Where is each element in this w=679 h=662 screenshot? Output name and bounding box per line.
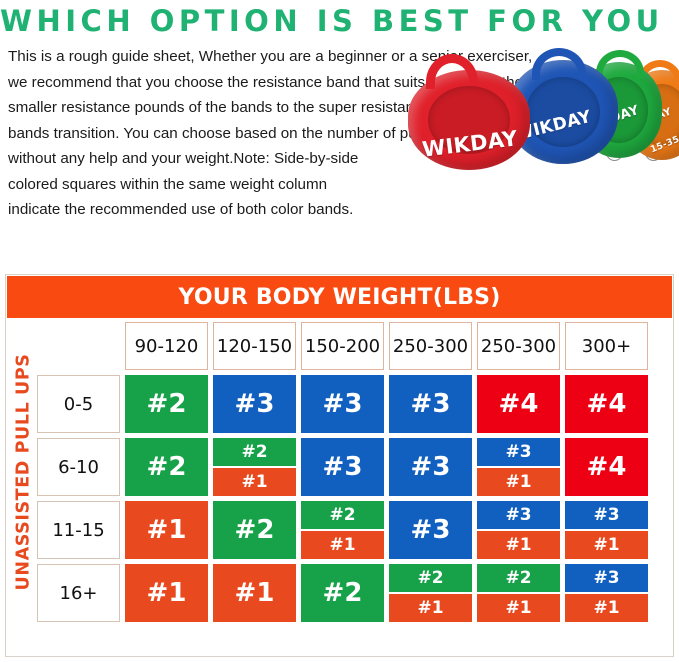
weight-column-header: 150-200 (301, 322, 384, 370)
band-recommendation-cell: #3 (389, 438, 472, 496)
intro-line: indicate the recommended use of both col… (8, 197, 428, 223)
intro-line: without any help and your weight.Note: S… (8, 146, 428, 172)
weight-column-header: 90-120 (125, 322, 208, 370)
band-recommendation-cell: #4 (477, 375, 560, 433)
band-recommendation-label: #4 (477, 375, 560, 433)
band-recommendation-cell: #3#1 (477, 501, 560, 559)
table-grid: UNASSISTED PULL UPS 90-120 120-150 150-2… (6, 318, 673, 627)
pullups-row-label: 0-5 (37, 375, 120, 433)
band-recommendation-cell: #3 (389, 375, 472, 433)
band-recommendation-label: #4 (565, 375, 648, 433)
band-loop-icon (532, 48, 586, 80)
band-recommendation-label: #3 (301, 438, 384, 496)
band-recommendation-label: #2 (389, 564, 472, 592)
band-recommendation-label: #2 (125, 438, 208, 496)
band-recommendation-label: #3 (389, 438, 472, 496)
band-recommendation-label: #3 (301, 375, 384, 433)
band-recommendation-cell: #2 (301, 564, 384, 622)
band-recommendation-cell: #4 (565, 438, 648, 496)
table-row: 11-15#1#2#2#1#3#3#1#3#1 (37, 501, 670, 559)
table-row: 16+#1#1#2#2#1#2#1#3#1 (37, 564, 670, 622)
weight-column-header: 120-150 (213, 322, 296, 370)
band-recommendation-label: #3 (565, 564, 648, 592)
band-recommendation-cell: #1 (125, 501, 208, 559)
pullups-axis-label-column: UNASSISTED PULL UPS (9, 322, 37, 622)
table-rows-host: 0-5#2#3#3#3#4#46-10#2#2#1#3#3#3#1#411-15… (37, 375, 670, 622)
band-recommendation-label: #3 (565, 501, 648, 529)
band-recommendation-label: #1 (565, 531, 648, 559)
band-recommendation-label: #3 (477, 501, 560, 529)
page-title: WHICH OPTION IS BEST FOR YOU ? (0, 0, 679, 40)
band-red: WIKDAY (408, 70, 530, 170)
band-recommendation-cell: #3#1 (477, 438, 560, 496)
band-recommendation-label: #1 (565, 594, 648, 622)
band-recommendation-cell: #3 (301, 438, 384, 496)
band-recommendation-cell: #2 (125, 375, 208, 433)
band-recommendation-cell: #3 (389, 501, 472, 559)
band-recommendation-label: #1 (213, 564, 296, 622)
band-recommendation-cell: #2 (125, 438, 208, 496)
band-recommendation-label: #3 (389, 501, 472, 559)
intro-section: This is a rough guide sheet, Whether you… (0, 40, 679, 262)
weight-column-header: 250-300 (477, 322, 560, 370)
resistance-bands-photo: WIKDAY 15-35 WIKDAY WIKDAY WIKDAY (408, 48, 676, 172)
band-recommendation-cell: #2#1 (389, 564, 472, 622)
pullups-row-label: 16+ (37, 564, 120, 622)
band-recommendation-label: #1 (477, 468, 560, 496)
band-recommendation-label: #2 (125, 375, 208, 433)
band-recommendation-cell: #2#1 (213, 438, 296, 496)
weight-column-header: 250-300 (389, 322, 472, 370)
band-recommendation-label: #2 (477, 564, 560, 592)
band-recommendation-label: #2 (301, 564, 384, 622)
band-recommendation-label: #2 (213, 438, 296, 466)
band-recommendation-label: #1 (389, 594, 472, 622)
band-recommendation-label: #2 (301, 501, 384, 529)
band-recommendation-label: #1 (301, 531, 384, 559)
band-recommendation-cell: #1 (125, 564, 208, 622)
table-body: 90-120 120-150 150-200 250-300 250-300 3… (37, 322, 670, 622)
band-recommendation-cell: #2 (213, 501, 296, 559)
recommendation-table: YOUR BODY WEIGHT(LBS) UNASSISTED PULL UP… (5, 274, 674, 657)
pullups-row-label: 6-10 (37, 438, 120, 496)
corner-spacer (37, 322, 120, 370)
body-weight-header: YOUR BODY WEIGHT(LBS) (7, 276, 672, 318)
table-row: 0-5#2#3#3#3#4#4 (37, 375, 670, 433)
band-recommendation-label: #3 (389, 375, 472, 433)
pullups-axis-label: UNASSISTED PULL UPS (13, 354, 33, 591)
band-recommendation-label: #4 (565, 438, 648, 496)
band-recommendation-label: #1 (477, 594, 560, 622)
band-recommendation-label: #2 (213, 501, 296, 559)
band-recommendation-label: #1 (125, 564, 208, 622)
weight-column-header: 300+ (565, 322, 648, 370)
band-recommendation-label: #3 (477, 438, 560, 466)
band-recommendation-cell: #1 (213, 564, 296, 622)
band-recommendation-cell: #3 (213, 375, 296, 433)
band-loop-icon (426, 54, 478, 89)
band-recommendation-cell: #3#1 (565, 501, 648, 559)
table-row: 6-10#2#2#1#3#3#3#1#4 (37, 438, 670, 496)
band-recommendation-label: #3 (213, 375, 296, 433)
band-recommendation-label: #1 (477, 531, 560, 559)
band-recommendation-cell: #4 (565, 375, 648, 433)
band-recommendation-label: #1 (125, 501, 208, 559)
band-recommendation-cell: #2#1 (301, 501, 384, 559)
band-recommendation-cell: #3#1 (565, 564, 648, 622)
band-recommendation-label: #1 (213, 468, 296, 496)
table-header-row: 90-120 120-150 150-200 250-300 250-300 3… (37, 322, 670, 370)
band-recommendation-cell: #3 (301, 375, 384, 433)
band-recommendation-cell: #2#1 (477, 564, 560, 622)
intro-line: colored squares within the same weight c… (8, 172, 428, 198)
pullups-row-label: 11-15 (37, 501, 120, 559)
